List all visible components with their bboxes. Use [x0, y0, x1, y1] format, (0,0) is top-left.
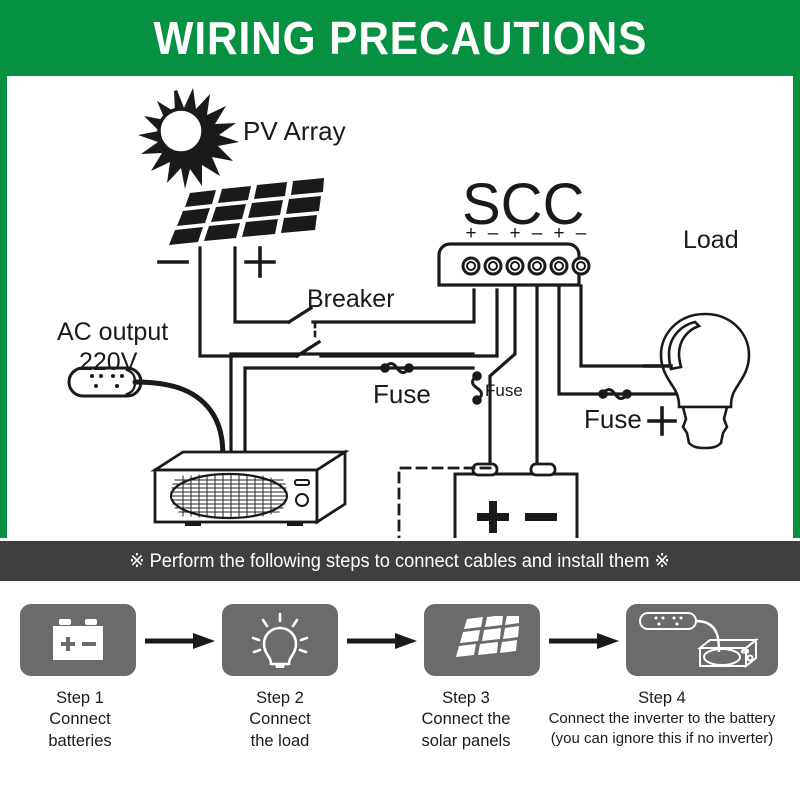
lightbulb-icon [661, 314, 749, 448]
wiring-precautions-page: WIRING PRECAUTIONS [0, 0, 800, 800]
pv-positive-sign [246, 248, 274, 276]
instruction-bar: ※ Perform the following steps to connect… [0, 541, 800, 581]
label-breaker: Breaker [307, 285, 395, 313]
step-4-line1: Connect the inverter to the battery [524, 709, 800, 729]
step-2-line1: Connect [200, 709, 360, 730]
step-arrow-2 [347, 632, 419, 650]
step-1-number: Step 1 [0, 688, 160, 709]
battery-device [455, 464, 577, 538]
step-arrow-3 [549, 632, 621, 650]
step-2-icon-box[interactable] [222, 604, 338, 676]
ac-cord [135, 382, 223, 462]
label-scc: SCC [462, 172, 584, 237]
step-3-icon-box[interactable] [424, 604, 540, 676]
svg-text:–: – [532, 223, 543, 244]
step-icons-row [0, 596, 800, 684]
svg-text:+: + [553, 223, 564, 244]
step-2-label: Step 2 Connect the load [200, 688, 360, 752]
inverter-dc-wires [231, 354, 473, 462]
svg-text:–: – [488, 223, 499, 244]
instruction-label: Perform the following steps to connect c… [150, 551, 650, 572]
step-2-line2: the load [200, 731, 360, 752]
label-fuse-load: Fuse [584, 404, 642, 434]
step-1-icon-box[interactable] [20, 604, 136, 676]
step-4-number: Step 4 [524, 688, 800, 709]
label-pv-array: PV Array [243, 116, 346, 146]
label-ac-voltage: 220V [79, 348, 138, 376]
svg-text:+: + [509, 223, 520, 244]
scc-terminal-block [439, 244, 589, 285]
pv-positive-wire [235, 248, 289, 322]
reference-mark-right-icon: ※ [655, 551, 670, 572]
svg-text:–: – [576, 223, 587, 244]
label-fuse-battery: Fuse [485, 381, 523, 400]
step-4-label: Step 4 Connect the inverter to the batte… [524, 688, 800, 748]
label-ac-output: AC output [57, 318, 168, 346]
pv-negative-wire [200, 248, 297, 356]
step-1-line2: batteries [0, 731, 160, 752]
label-load: Load [683, 226, 739, 254]
inverter-device [155, 452, 345, 526]
page-header: WIRING PRECAUTIONS [0, 0, 800, 76]
step-1-line1: Connect [0, 709, 160, 730]
fuse-inverter-symbol [382, 364, 412, 373]
reference-mark-left-icon: ※ [130, 551, 145, 572]
sun-icon [138, 88, 239, 189]
wiring-diagram-svg: PV Array SCC Load Breaker AC output 220V… [7, 76, 793, 538]
steps-section: Step 1 Connect batteries Step 2 Connect … [0, 596, 800, 800]
step-2-number: Step 2 [200, 688, 360, 709]
fuse-battery-symbol [473, 373, 482, 403]
pv-panel-icon [169, 178, 324, 245]
solar-panel-icon [445, 616, 519, 664]
label-fuse-inverter: Fuse [373, 379, 431, 409]
page-title: WIRING PRECAUTIONS [153, 11, 647, 65]
step-1-label: Step 1 Connect batteries [0, 688, 160, 752]
fuse-load-symbol [600, 390, 630, 399]
inverter-icon [638, 608, 766, 672]
scc-terminal-wires [490, 286, 675, 474]
step-arrow-1 [145, 632, 217, 650]
svg-text:+: + [465, 223, 476, 244]
wiring-diagram-panel: PV Array SCC Load Breaker AC output 220V… [0, 76, 800, 538]
lightbulb-icon [247, 612, 313, 668]
step-4-icon-box[interactable] [626, 604, 778, 676]
load-positive-sign [649, 408, 675, 434]
step-4-line2: (you can ignore this if no inverter) [524, 729, 800, 749]
battery-icon [41, 615, 115, 665]
instruction-text: ※ Perform the following steps to connect… [130, 550, 671, 573]
